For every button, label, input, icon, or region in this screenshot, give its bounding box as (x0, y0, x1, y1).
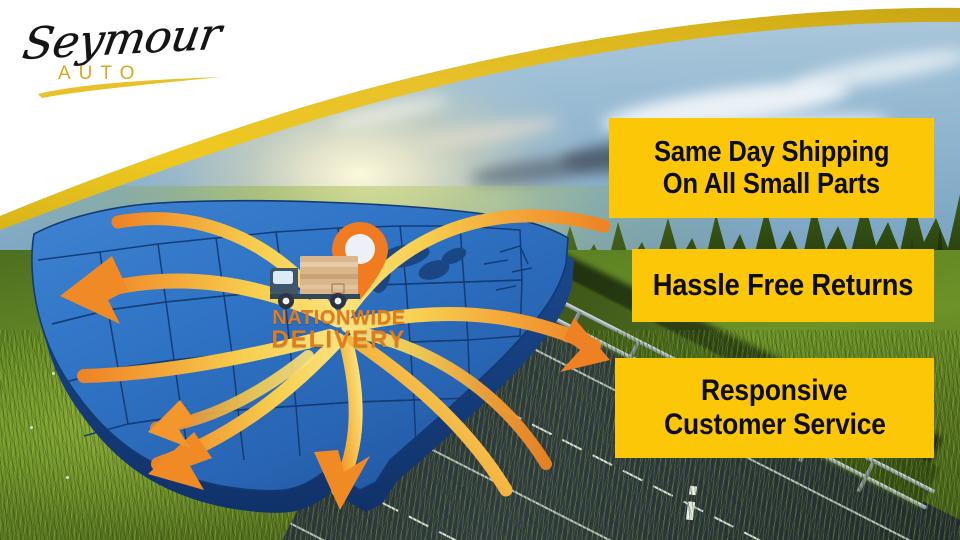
feature-line: On All Small Parts (663, 168, 880, 200)
brand-logo[interactable]: Seymour AUTO (18, 14, 248, 100)
cloud (330, 92, 451, 133)
nationwide-delivery-label: NATIONWIDE DELIVERY (253, 308, 425, 353)
feature-box-responsive-customer-service[interactable]: Responsive Customer Service (615, 358, 934, 458)
delivery-label-line-2: DELIVERY (253, 328, 425, 352)
nationwide-delivery-badge: NATIONWIDE DELIVERY (255, 222, 420, 352)
promotional-banner: NATIONWIDE DELIVERY Seymour AUTO (0, 0, 960, 540)
logo-wordmark-script: Seymour (19, 9, 224, 70)
cloud (419, 113, 560, 153)
feature-line: Responsive (701, 374, 847, 408)
feature-box-hassle-free-returns[interactable]: Hassle Free Returns (632, 249, 934, 322)
feature-box-same-day-shipping[interactable]: Same Day Shipping On All Small Parts (609, 118, 934, 218)
delivery-label-line-1: NATIONWIDE (253, 308, 425, 328)
feature-line: Same Day Shipping (654, 136, 889, 168)
logo-swoosh-icon (36, 76, 226, 100)
delivery-truck-icon (270, 252, 368, 310)
feature-line: Hassle Free Returns (653, 268, 913, 303)
feature-line: Customer Service (664, 408, 886, 442)
